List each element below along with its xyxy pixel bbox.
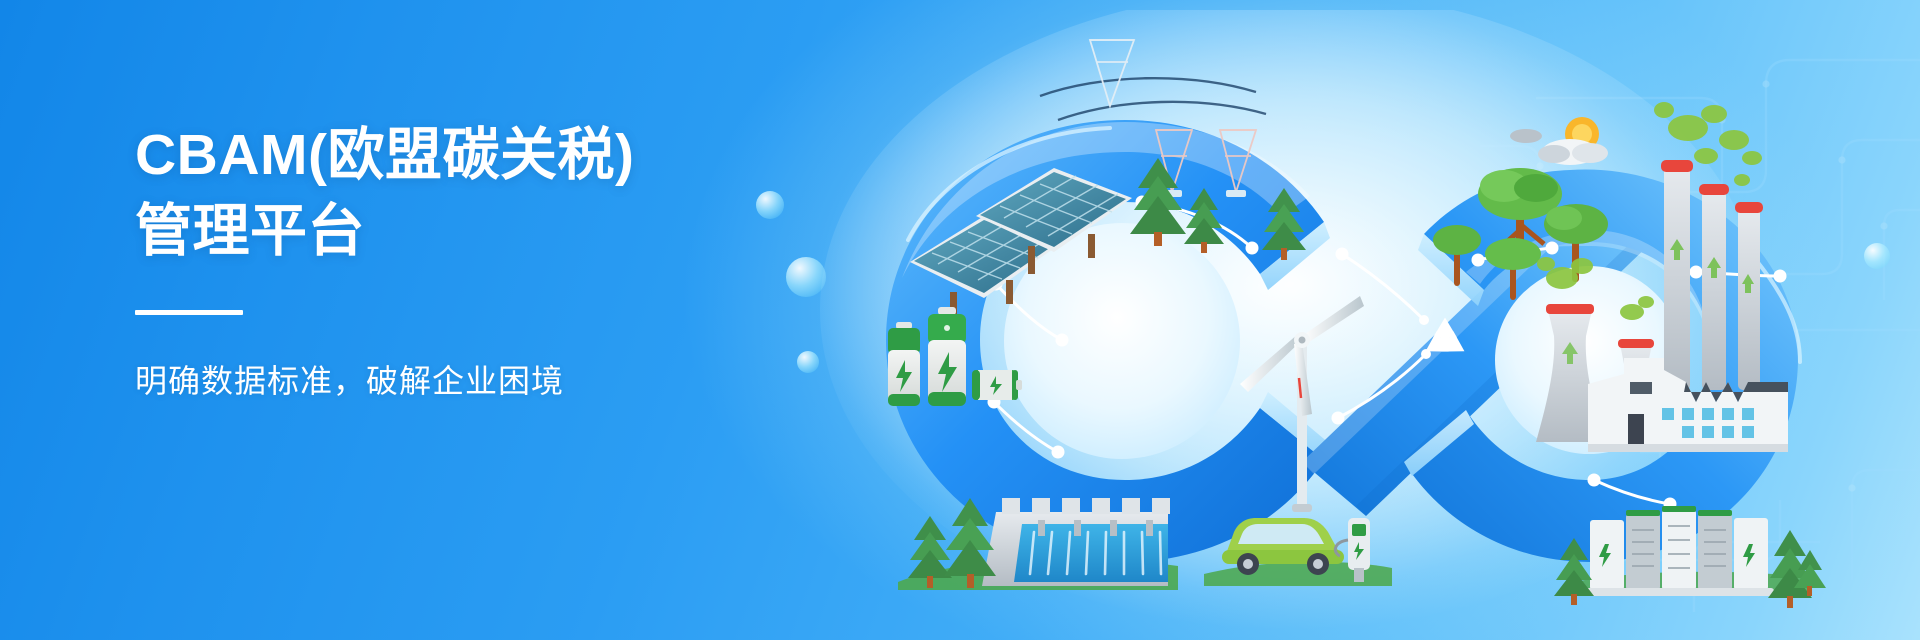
title-divider: [135, 310, 243, 315]
page-title: CBAM(欧盟碳关税) 管理平台: [135, 118, 835, 270]
hero-illustration: [790, 10, 1920, 630]
server-rack-icon: [1554, 506, 1826, 608]
page-subtitle: 明确数据标准，破解企业困境: [135, 359, 835, 404]
cbam-hero-banner: CBAM(欧盟碳关税) 管理平台 明确数据标准，破解企业困境: [0, 0, 1920, 640]
hero-copy-block: CBAM(欧盟碳关税) 管理平台 明确数据标准，破解企业困境: [135, 118, 835, 403]
